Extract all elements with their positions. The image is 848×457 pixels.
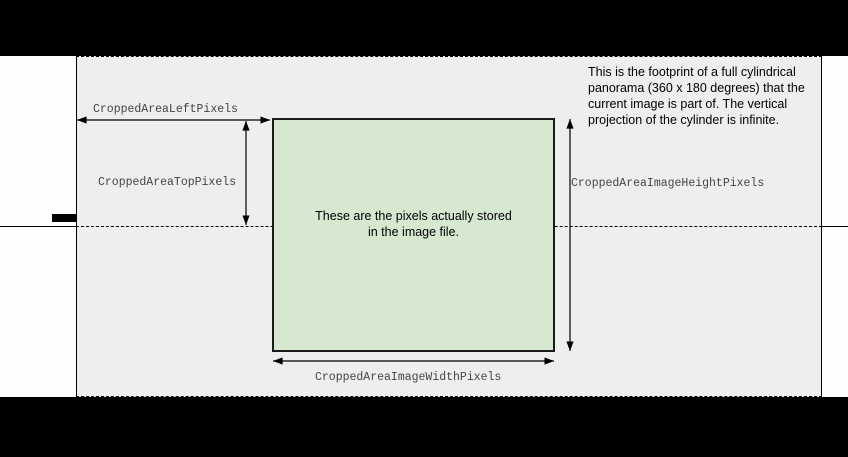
diagram-canvas: These are the pixels actually stored in …: [0, 0, 848, 457]
stored-pixels-line-2: in the image file.: [274, 224, 553, 240]
equator-line-left: [0, 226, 76, 227]
footprint-note-line-1: This is the footprint of a full cylindri…: [588, 64, 828, 80]
label-cropped-area-top-pixels: CroppedAreaTopPixels: [98, 176, 236, 189]
equator-line-right: [822, 226, 848, 227]
label-cropped-area-image-width-pixels: CroppedAreaImageWidthPixels: [315, 371, 501, 384]
footprint-note-line-2: panorama (360 x 180 degrees) that the: [588, 80, 828, 96]
origin-marker-block: [52, 214, 76, 222]
stored-pixels-line-1: These are the pixels actually stored: [274, 208, 553, 224]
label-cropped-area-left-pixels: CroppedAreaLeftPixels: [93, 103, 238, 116]
stored-pixels-region: These are the pixels actually stored in …: [272, 118, 555, 352]
label-cropped-area-image-height-pixels: CroppedAreaImageHeightPixels: [571, 177, 764, 190]
footprint-note: This is the footprint of a full cylindri…: [588, 64, 828, 128]
footprint-note-line-4: projection of the cylinder is infinite.: [588, 112, 828, 128]
footprint-note-line-3: current image is part of. The vertical: [588, 96, 828, 112]
stored-pixels-text: These are the pixels actually stored in …: [274, 208, 553, 240]
